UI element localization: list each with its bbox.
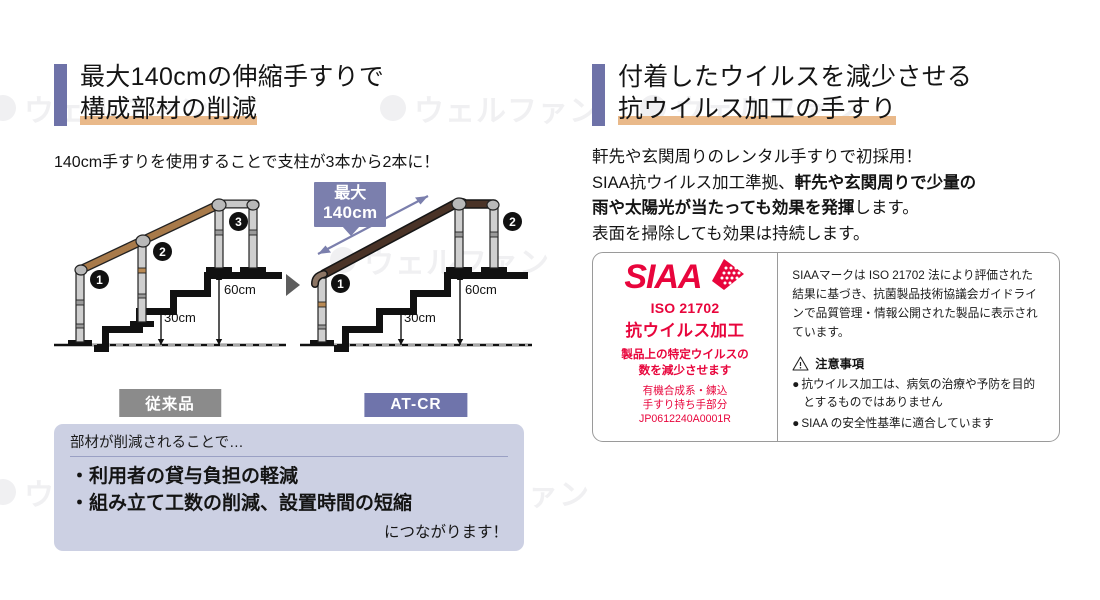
lede-line-2: SIAA抗ウイルス加工準拠、軒先や玄関周りで少量の (592, 171, 1062, 197)
siaa-para-line3: ンで品質管理・情報公開された製品に表示され (792, 304, 1047, 323)
siaa-diamond-icon (700, 257, 746, 299)
diagram-conventional: 30cm 60cm 1 2 3 従来品 (54, 182, 286, 397)
post-number-2: 2 (503, 212, 522, 231)
siaa-note-1: ●抗ウイルス加工は、病気の治療や予防を目的 とするものではありません (792, 376, 1047, 411)
left-column: 最大140cmの伸縮手すりで 構成部材の削減 140cm手すりを使用することで支… (54, 62, 554, 397)
heading-accent-bar (54, 64, 67, 126)
badge-atcr: AT-CR (364, 393, 467, 417)
right-heading-text: 付着したウイルスを減少させる 抗ウイルス加工の手すり (618, 62, 972, 126)
benefit-box: 部材が削減されることで… ・利用者の貸与負担の軽減 ・組み立て工数の削減、設置時… (54, 424, 524, 551)
diagram-atcr: 30cm 60cm 1 2 最大 140cm AT-CR (300, 182, 532, 397)
bullet-icon: ● (792, 378, 799, 391)
left-lede: 140cm手すりを使用することで支柱が3本から2本に！ (54, 148, 554, 172)
post-number-1: 1 (90, 270, 109, 289)
left-heading: 最大140cmの伸縮手すりで 構成部材の削減 (54, 62, 554, 126)
list-item: ・組み立て工数の削減、設置時間の短縮 (70, 491, 508, 518)
lede-line-3: 雨や太陽光が当たっても効果を発揮します。 (592, 196, 1062, 222)
lede-line-2a: SIAA抗ウイルス加工準拠、 (592, 174, 795, 192)
lede-line-4: 表面を掃除しても効果は持続します。 (592, 222, 1062, 248)
benefit-list: ・利用者の貸与負担の軽減 ・組み立て工数の削減、設置時間の短縮 (70, 464, 508, 518)
siaa-certification-box: SIAA ISO 21702 抗ウイルス加工 製品上の特定ウイルスの 数を減少さ… (592, 252, 1060, 442)
siaa-info-panel: SIAAマークは ISO 21702 法により評価された 結果に基づき、抗菌製品… (778, 253, 1059, 441)
siaa-note1-text1: 抗ウイルス加工は、病気の治療や予防を目的 (801, 378, 1035, 391)
siaa-warning-header: 注意事項 (792, 354, 1047, 372)
bullet-icon: ● (792, 417, 799, 430)
dim-label-60cm: 60cm (224, 282, 256, 297)
dim-label-30cm: 30cm (164, 310, 196, 325)
siaa-code-line1: 有機合成系・練込 (639, 384, 731, 398)
right-heading-line2: 抗ウイルス加工の手すり (618, 94, 896, 126)
left-heading-text: 最大140cmの伸縮手すりで 構成部材の削減 (80, 62, 384, 126)
right-heading: 付着したウイルスを減少させる 抗ウイルス加工の手すり (592, 62, 1062, 126)
callout-line1: 最大 (323, 185, 377, 203)
warning-triangle-icon (792, 356, 809, 371)
heading-accent-bar (592, 64, 605, 126)
lede-line-3b: します。 (854, 199, 918, 217)
page-root: 最大140cmの伸縮手すりで 構成部材の削減 140cm手すりを使用することで支… (0, 0, 1100, 600)
left-heading-line1: 最大140cmの伸縮手すりで (80, 62, 384, 94)
dim-label-60cm: 60cm (465, 282, 497, 297)
siaa-paragraph: SIAAマークは ISO 21702 法により評価された 結果に基づき、抗菌製品… (792, 266, 1047, 342)
siaa-logo-panel: SIAA ISO 21702 抗ウイルス加工 製品上の特定ウイルスの 数を減少さ… (593, 253, 777, 441)
siaa-desc-line1: 製品上の特定ウイルスの (621, 347, 749, 363)
siaa-code: 有機合成系・練込 手すり持ち手部分 JP0612240A0001R (639, 384, 731, 426)
siaa-para-line1: SIAAマークは ISO 21702 法により評価された (792, 266, 1047, 285)
siaa-note2-line1: ●SIAA の安全性基準に適合しています (792, 415, 1047, 433)
right-column: 付着したウイルスを減少させる 抗ウイルス加工の手すり 軒先や玄関周りのレンタル手… (592, 62, 1062, 247)
left-heading-line2: 構成部材の削減 (80, 94, 257, 126)
right-lede: 軒先や玄関周りのレンタル手すりで初採用！ SIAA抗ウイルス加工準拠、軒先や玄関… (592, 145, 1062, 247)
dim-label-30cm: 30cm (404, 310, 436, 325)
badge-conventional: 従来品 (119, 389, 221, 417)
siaa-iso-number: ISO 21702 (651, 300, 720, 316)
siaa-para-line4: ています。 (792, 323, 1047, 342)
siaa-note-2: ●SIAA の安全性基準に適合しています (792, 415, 1047, 433)
lede-line-1: 軒先や玄関周りのレンタル手すりで初採用！ (592, 145, 1062, 171)
comparison-diagram: 30cm 60cm 1 2 3 従来品 (54, 182, 554, 397)
post-number-2: 2 (153, 242, 172, 261)
siaa-warning-title: 注意事項 (815, 354, 864, 372)
benefit-heading: 部材が削減されることで… (70, 431, 508, 457)
siaa-para-line2: 結果に基づき、抗菌製品技術協議会ガイドライ (792, 285, 1047, 304)
post-number-3: 3 (229, 212, 248, 231)
post-number-1: 1 (331, 274, 350, 293)
siaa-note1-line1: ●抗ウイルス加工は、病気の治療や予防を目的 (792, 376, 1047, 394)
siaa-note1-line2: とするものではありません (792, 394, 1047, 412)
lede-line-2b: 軒先や玄関周りで少量の (795, 174, 977, 192)
siaa-note2-text: SIAA の安全性基準に適合しています (801, 417, 994, 430)
list-item: ・利用者の貸与負担の軽減 (70, 464, 508, 491)
siaa-desc-line2: 数を減少させます (621, 363, 749, 379)
max-length-callout: 最大 140cm (314, 182, 386, 227)
siaa-code-line3: JP0612240A0001R (639, 412, 731, 426)
benefit-tail: につながります！ (70, 520, 508, 542)
siaa-code-line2: 手すり持ち手部分 (639, 398, 731, 412)
right-heading-line1: 付着したウイルスを減少させる (618, 62, 972, 94)
siaa-wordmark: SIAA (624, 261, 701, 293)
lede-line-3a: 雨や太陽光が当たっても効果を発揮 (592, 199, 854, 217)
siaa-description: 製品上の特定ウイルスの 数を減少させます (621, 347, 749, 378)
siaa-logo: SIAA (624, 261, 745, 299)
arrow-right-icon (286, 274, 300, 296)
siaa-antiviral-label: 抗ウイルス加工 (626, 317, 745, 341)
callout-line2: 140cm (323, 203, 377, 222)
